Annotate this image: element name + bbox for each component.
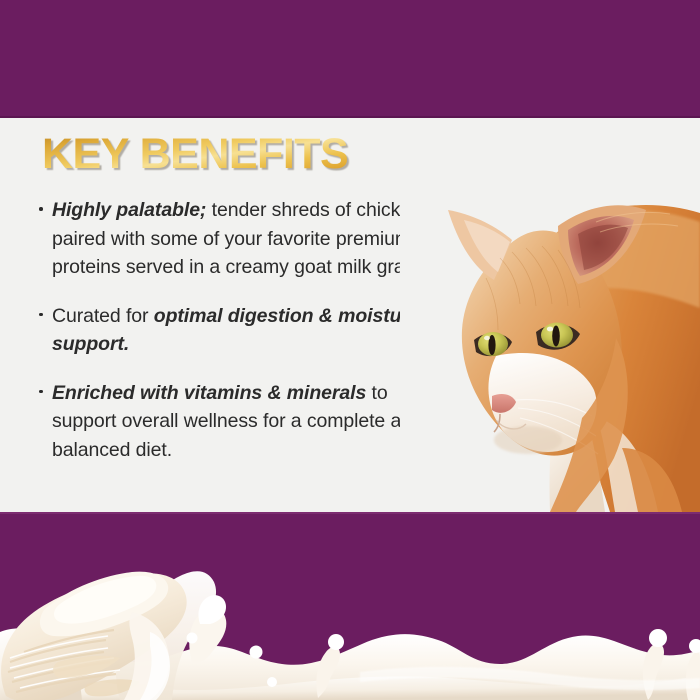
content-panel: KEY BENEFITS Highly palatable; tender sh… (0, 118, 700, 512)
benefit-text: Highly palatable; tender shreds of chick… (38, 196, 438, 282)
bullet-dot-icon (39, 313, 43, 317)
bottom-purple-band (0, 512, 700, 700)
milk-droplet (250, 646, 263, 659)
benefit-text: Curated for optimal digestion & moisture… (38, 302, 438, 359)
benefits-list: Highly palatable; tender shreds of chick… (38, 196, 438, 464)
page-title: KEY BENEFITS (42, 133, 348, 176)
milk-splash-graphic (0, 512, 700, 700)
benefit-emphasis: Enriched with vitamins & minerals (52, 382, 366, 404)
marketing-infographic: KEY BENEFITS Highly palatable; tender sh… (0, 0, 700, 700)
list-item: Curated for optimal digestion & moisture… (38, 302, 438, 359)
benefit-emphasis: Highly palatable; (52, 199, 206, 221)
bullet-dot-icon (39, 207, 43, 211)
benefit-lead: Curated for (52, 305, 154, 327)
list-item: Highly palatable; tender shreds of chick… (38, 196, 438, 282)
benefit-text: Enriched with vitamins & minerals to sup… (38, 379, 438, 465)
list-item: Enriched with vitamins & minerals to sup… (38, 379, 438, 465)
top-purple-band (0, 0, 700, 118)
milk-droplet (267, 677, 277, 687)
bullet-dot-icon (39, 390, 43, 394)
shredded-chicken (1, 572, 187, 700)
milk-droplet (187, 633, 198, 644)
